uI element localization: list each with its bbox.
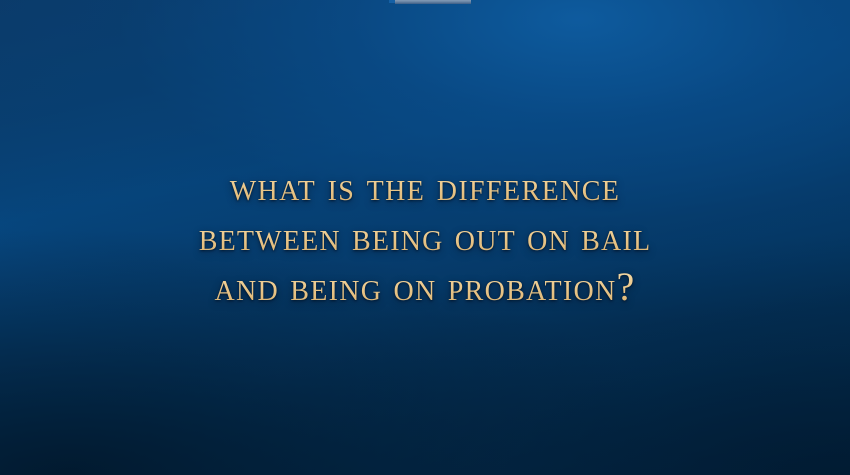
title-block: WHAT IS THE DIFFERENCE BETWEEN BEING OUT…: [0, 162, 850, 312]
title-line-3: AND BEING ON PROBATION?: [0, 262, 850, 312]
video-title-slide: WHAT IS THE DIFFERENCE BETWEEN BEING OUT…: [0, 0, 850, 475]
title-line-1: WHAT IS THE DIFFERENCE: [0, 162, 850, 212]
player-chrome-strip[interactable]: [395, 0, 471, 4]
title-line-2: BETWEEN BEING OUT ON BAIL: [0, 212, 850, 262]
